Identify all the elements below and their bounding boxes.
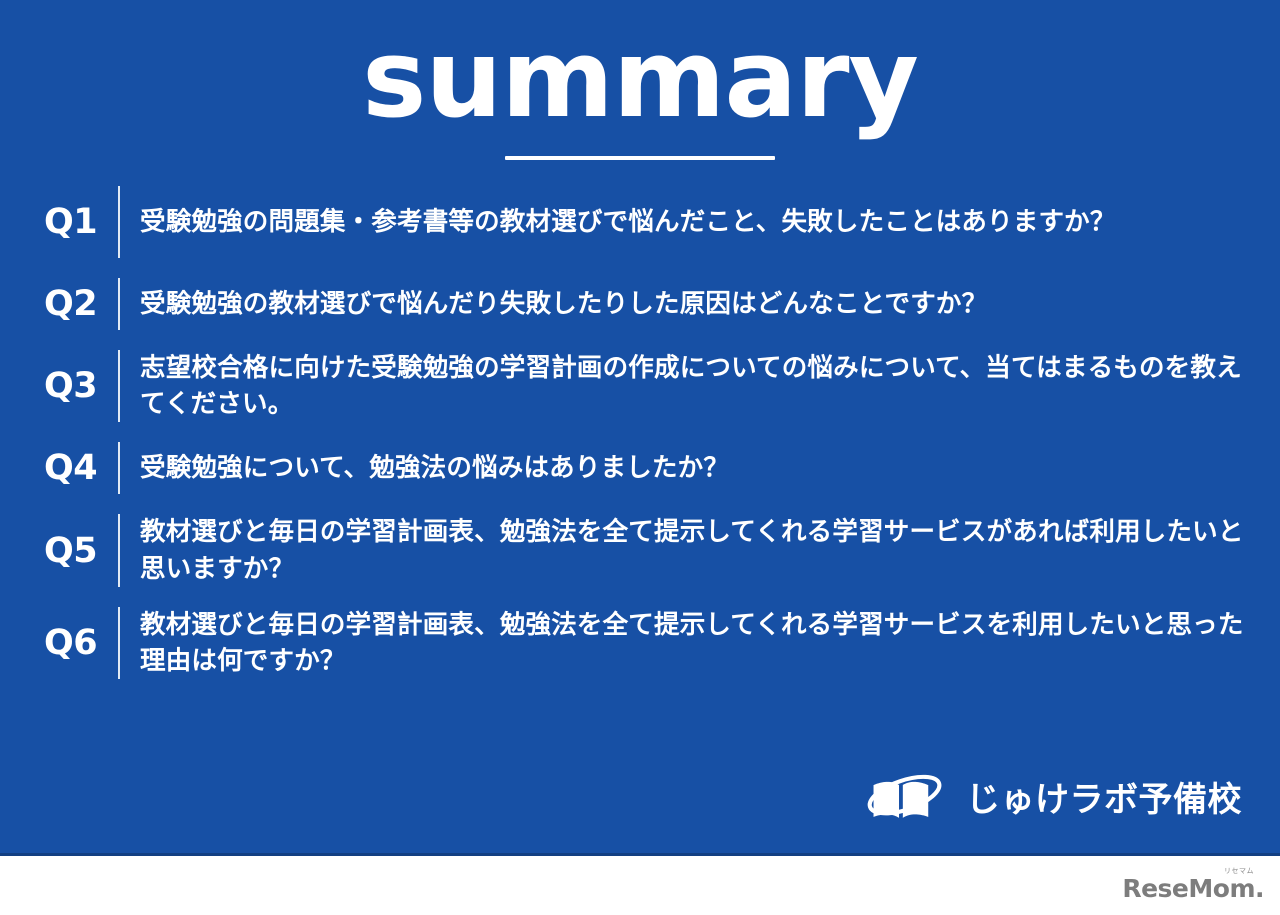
- question-divider: [118, 350, 120, 422]
- question-row-q1: Q1 受験勉強の問題集・参考書等の教材選びで悩んだこと、失敗したことはありますか…: [40, 186, 1245, 258]
- question-label: Q6: [40, 623, 118, 663]
- question-row-q4: Q4 受験勉強について、勉強法の悩みはありましたか？: [40, 442, 1245, 494]
- summary-slide: summary Q1 受験勉強の問題集・参考書等の教材選びで悩んだこと、失敗した…: [0, 0, 1280, 856]
- page-title: summary: [0, 18, 1280, 142]
- watermark-brand-name: ReseMom.: [1122, 876, 1264, 901]
- question-label: Q4: [40, 448, 118, 488]
- question-row-q3: Q3 志望校合格に向けた受験勉強の学習計画の作成についての悩みについて、当てはま…: [40, 350, 1245, 422]
- question-text: 受験勉強の問題集・参考書等の教材選びで悩んだこと、失敗したことはありますか？: [140, 204, 1245, 240]
- question-label: Q5: [40, 531, 118, 571]
- question-text: 教材選びと毎日の学習計画表、勉強法を全て提示してくれる学習サービスを利用したいと…: [140, 607, 1245, 679]
- question-list: Q1 受験勉強の問題集・参考書等の教材選びで悩んだこと、失敗したことはありますか…: [40, 186, 1245, 679]
- question-divider: [118, 186, 120, 258]
- question-text: 受験勉強の教材選びで悩んだり失敗したりした原因はどんなことですか？: [140, 286, 1245, 322]
- question-label: Q3: [40, 366, 118, 406]
- question-row-q6: Q6 教材選びと毎日の学習計画表、勉強法を全て提示してくれる学習サービスを利用し…: [40, 607, 1245, 679]
- question-text: 教材選びと毎日の学習計画表、勉強法を全て提示してくれる学習サービスがあれば利用し…: [140, 514, 1245, 586]
- question-label: Q1: [40, 202, 118, 242]
- question-divider: [118, 607, 120, 679]
- brand-logo: じゅけラボ予備校: [864, 765, 1242, 827]
- footer-bar: リセマム ReseMom.: [0, 856, 1280, 915]
- slide-header: summary: [0, 18, 1280, 160]
- question-text: 受験勉強について、勉強法の悩みはありましたか？: [140, 450, 1245, 486]
- question-row-q5: Q5 教材選びと毎日の学習計画表、勉強法を全て提示してくれる学習サービスがあれば…: [40, 514, 1245, 586]
- title-underline-rule: [505, 156, 775, 160]
- question-text: 志望校合格に向けた受験勉強の学習計画の作成についての悩みについて、当てはまるもの…: [140, 350, 1245, 422]
- resemom-watermark: リセマム ReseMom.: [1122, 868, 1264, 901]
- question-divider: [118, 514, 120, 586]
- question-row-q2: Q2 受験勉強の教材選びで悩んだり失敗したりした原因はどんなことですか？: [40, 278, 1245, 330]
- brand-name: じゅけラボ予備校: [966, 772, 1242, 821]
- open-book-orbit-icon: [864, 765, 956, 827]
- question-divider: [118, 278, 120, 330]
- question-divider: [118, 442, 120, 494]
- question-label: Q2: [40, 284, 118, 324]
